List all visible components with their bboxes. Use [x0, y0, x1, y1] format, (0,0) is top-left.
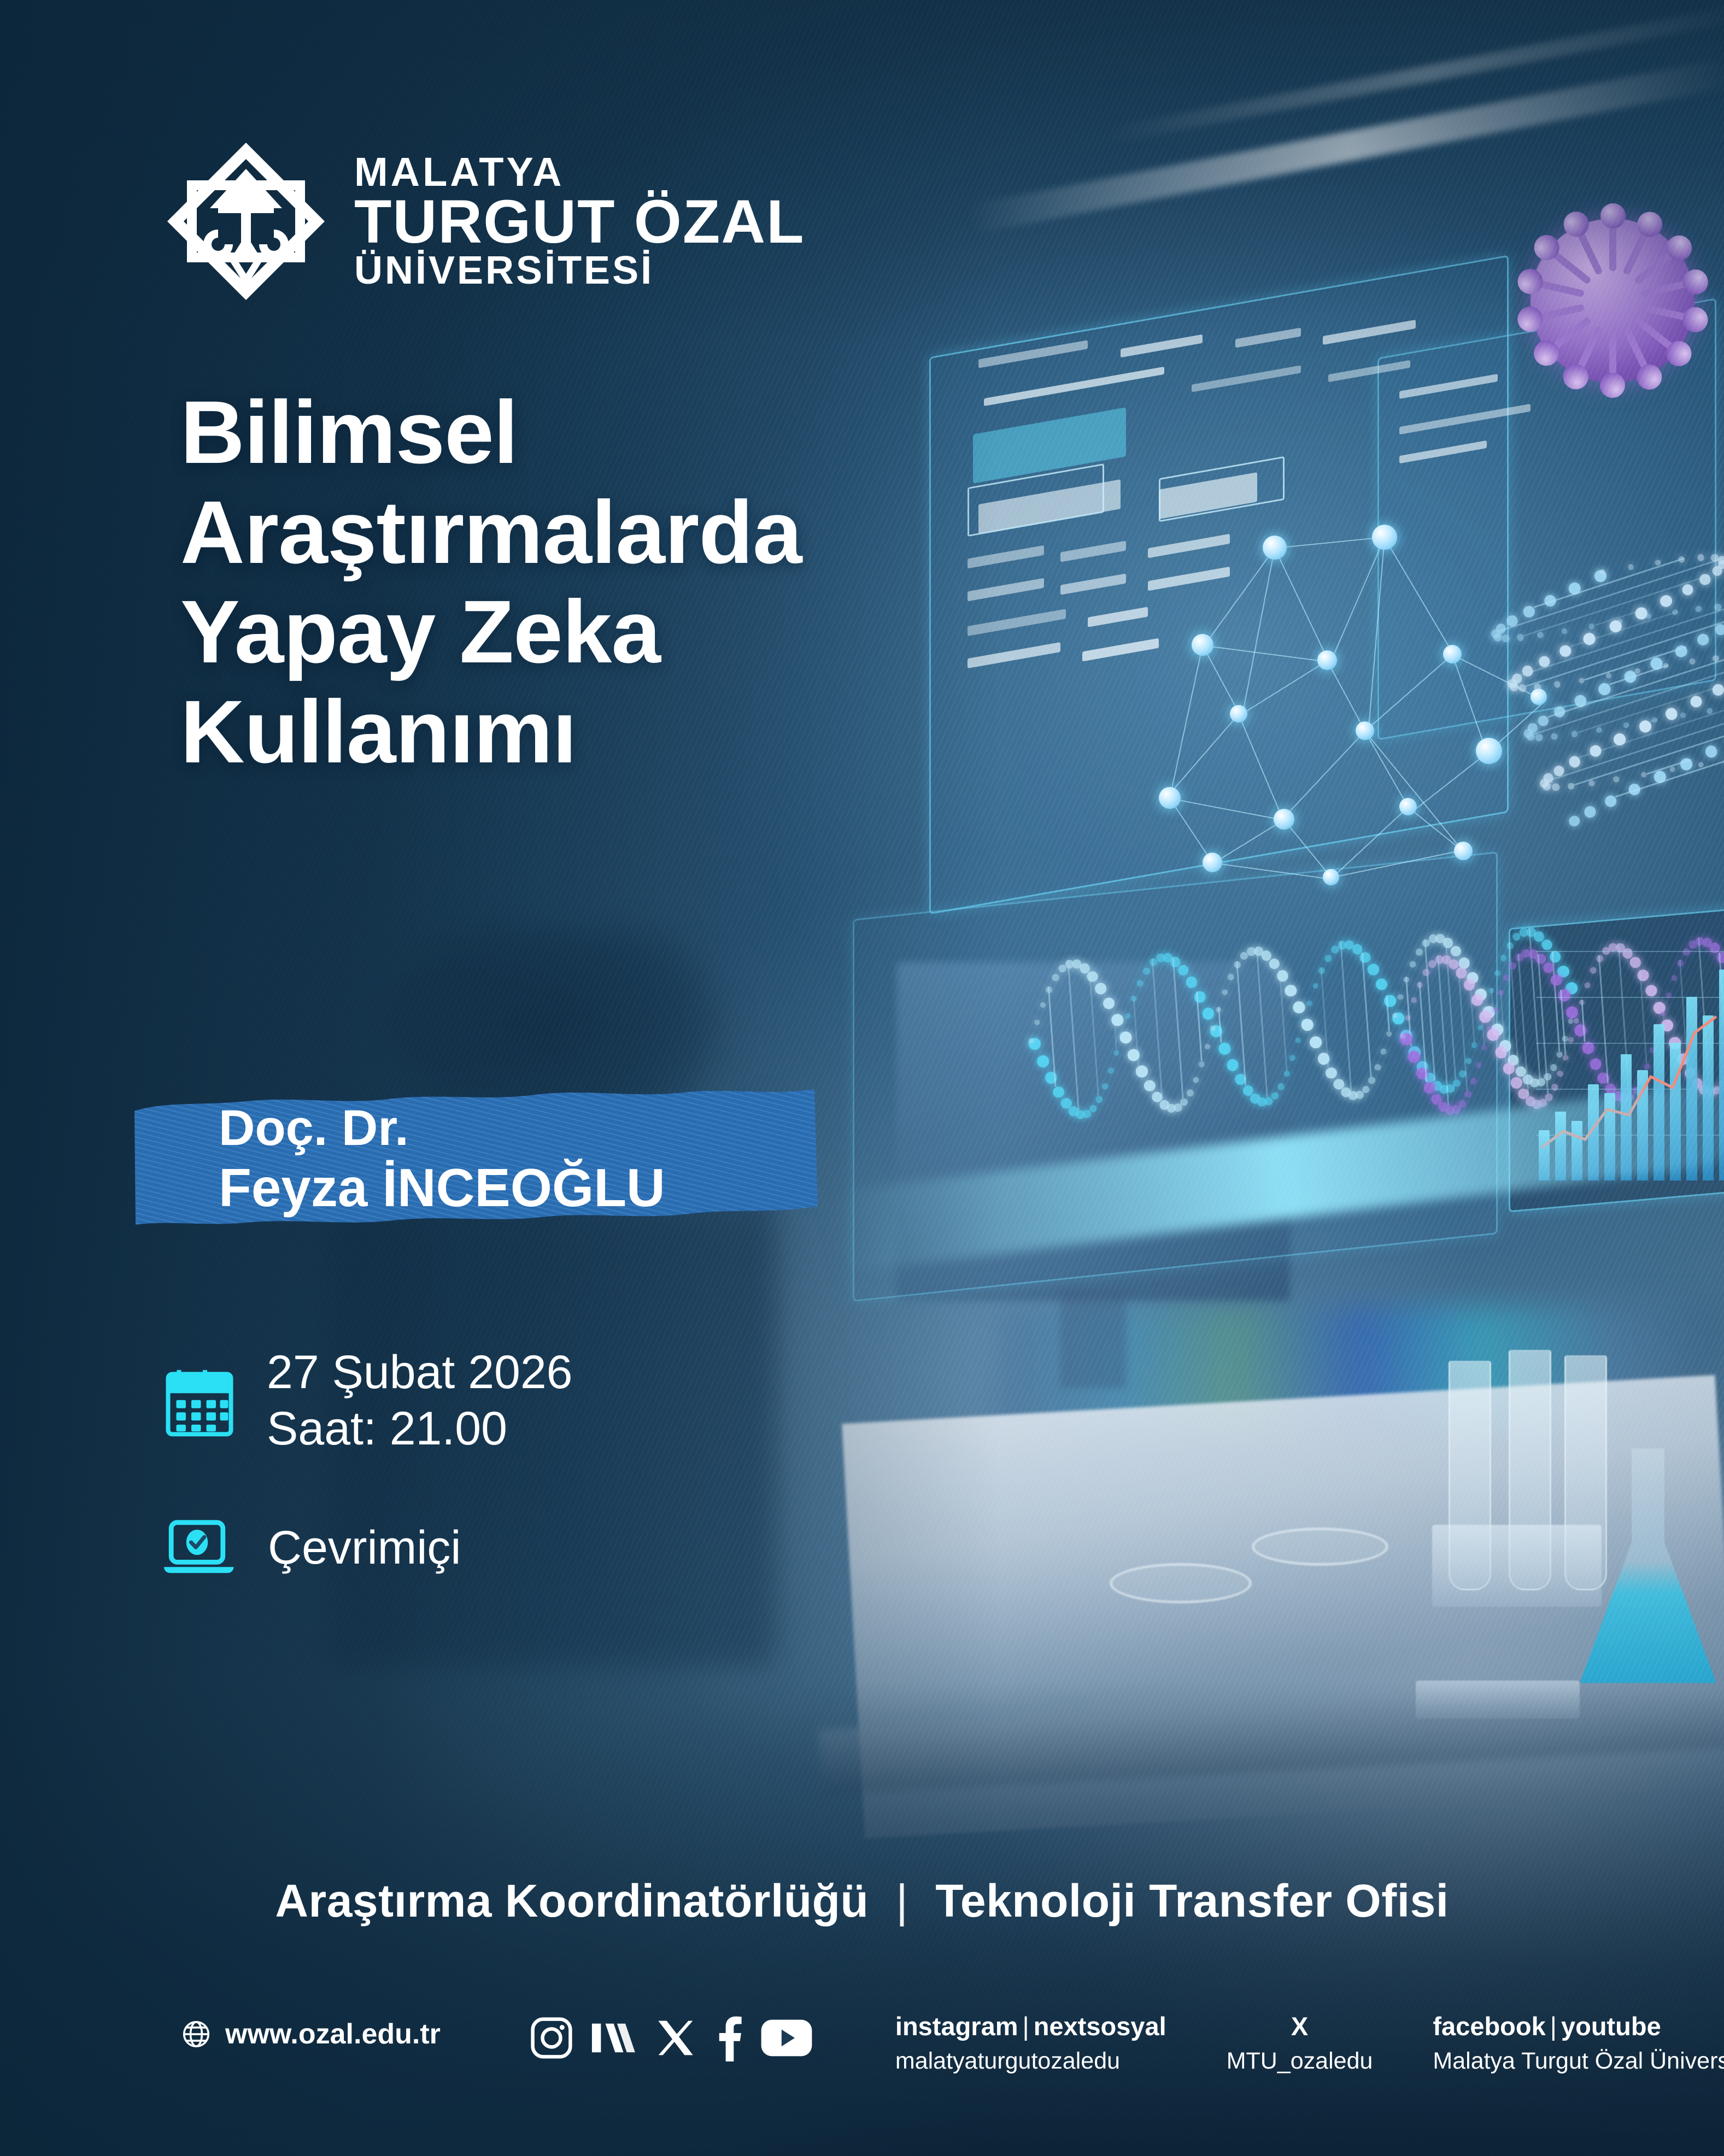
poster-footer: www.ozal.edu.tr — [0, 1989, 1724, 2110]
date-time-row: 27 Şubat 2026 Saat: 21.00 — [164, 1344, 573, 1457]
youtube-icon[interactable] — [760, 2017, 813, 2059]
account-platforms: instagram|nextsosyal — [895, 2011, 1166, 2041]
calendar-icon — [164, 1363, 235, 1438]
platform-youtube: youtube — [1561, 2012, 1661, 2041]
university-line-1: MALATYA — [354, 154, 805, 191]
poster-title: Bilimsel Araştırmalarda Yapay Zeka Kulla… — [180, 383, 802, 782]
mode-row: Çevrimiçi — [164, 1518, 573, 1577]
globe-icon — [180, 2018, 212, 2050]
mode-text: Çevrimiçi — [268, 1520, 461, 1576]
platform-pipe: | — [1023, 2012, 1029, 2041]
organizers-line: Araştırma Koordinatörlüğü | Teknoloji Tr… — [0, 1875, 1724, 1928]
date-time-text: 27 Şubat 2026 Saat: 21.00 — [267, 1344, 573, 1457]
account-handle: Malatya Turgut Özal Üniversitesi — [1433, 2048, 1724, 2075]
event-time: Saat: 21.00 — [267, 1401, 573, 1457]
account-x: X MTU_ozaledu — [1227, 2011, 1373, 2075]
university-emblem-icon — [164, 139, 328, 303]
website-block[interactable]: www.ozal.edu.tr — [180, 2018, 441, 2051]
platform-pipe: | — [1550, 2012, 1557, 2041]
organizer-right: Teknoloji Transfer Ofisi — [935, 1875, 1449, 1926]
speaker-title: Doç. Dr. — [219, 1102, 665, 1155]
university-line-2: TURGUT ÖZAL — [354, 193, 805, 250]
laptop-check-icon — [164, 1518, 236, 1577]
platform-instagram: instagram — [895, 2012, 1018, 2041]
nextsosyal-icon[interactable] — [589, 2014, 640, 2061]
organizer-left: Araştırma Koordinatörlüğü — [275, 1875, 869, 1926]
account-facebook-youtube: facebook|youtube Malatya Turgut Özal Üni… — [1433, 2011, 1724, 2075]
event-mode: Çevrimiçi — [268, 1520, 461, 1576]
speaker-name: Feyza İNCEOĞLU — [219, 1160, 665, 1216]
organizer-separator: | — [896, 1875, 908, 1928]
event-poster: MALATYA TURGUT ÖZAL ÜNİVERSİTESİ Bilimse… — [0, 0, 1724, 2156]
x-icon[interactable] — [654, 2016, 697, 2060]
account-instagram-nextsosyal: instagram|nextsosyal malatyaturgutozaled… — [895, 2011, 1166, 2075]
social-icon-row — [528, 2014, 813, 2061]
title-line-1: Bilimsel — [180, 383, 802, 483]
account-platforms: facebook|youtube — [1433, 2011, 1724, 2041]
website-url: www.ozal.edu.tr — [225, 2018, 441, 2051]
event-date: 27 Şubat 2026 — [267, 1344, 573, 1401]
event-info: 27 Şubat 2026 Saat: 21.00 Çevrimiçi — [164, 1344, 573, 1577]
title-line-2: Araştırmalarda — [180, 483, 802, 583]
title-line-3: Yapay Zeka — [180, 582, 802, 682]
account-handle: malatyaturgutozaledu — [895, 2048, 1166, 2075]
facebook-icon[interactable] — [712, 2014, 746, 2061]
title-line-4: Kullanımı — [180, 682, 802, 782]
university-name: MALATYA TURGUT ÖZAL ÜNİVERSİTESİ — [354, 154, 805, 289]
platform-facebook: facebook — [1433, 2012, 1545, 2041]
university-line-3: ÜNİVERSİTESİ — [354, 252, 805, 289]
speaker-text: Doç. Dr. Feyza İNCEOĞLU — [219, 1102, 665, 1216]
platform-nextsosyal: nextsosyal — [1034, 2012, 1166, 2041]
account-handle: MTU_ozaledu — [1227, 2048, 1373, 2075]
speaker-banner: Doç. Dr. Feyza İNCEOĞLU — [131, 1079, 820, 1230]
instagram-icon[interactable] — [528, 2014, 575, 2061]
platform-x: X — [1227, 2011, 1373, 2041]
poster-header: MALATYA TURGUT ÖZAL ÜNİVERSİTESİ — [164, 139, 805, 303]
